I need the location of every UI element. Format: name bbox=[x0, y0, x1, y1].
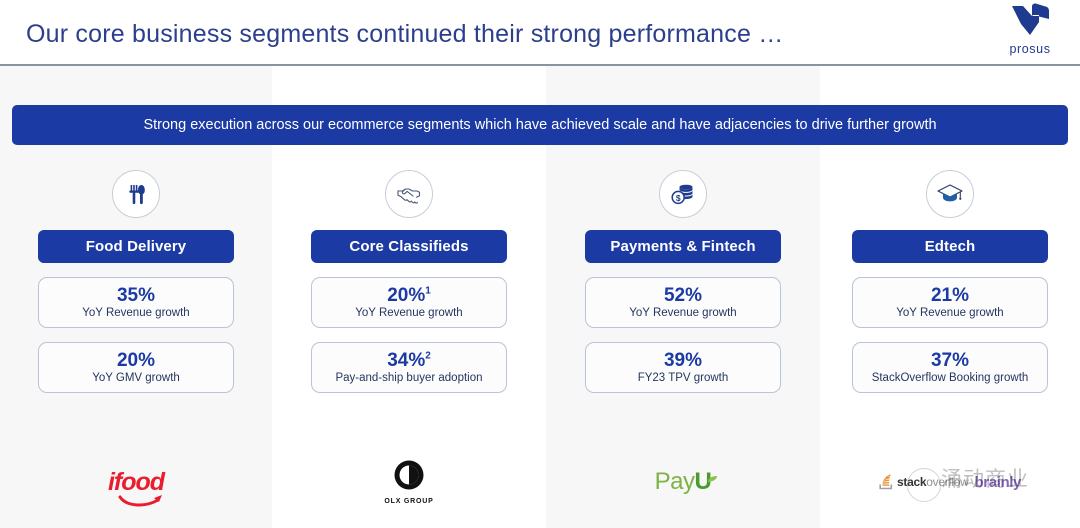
payu-leaf-icon bbox=[706, 468, 718, 492]
segment-title-label: Core Classifieds bbox=[349, 238, 468, 255]
metric-card: 37% StackOverflow Booking growth bbox=[852, 342, 1048, 393]
metric-label: YoY Revenue growth bbox=[896, 307, 1003, 319]
cutlery-icon bbox=[112, 170, 160, 218]
segment-title-label: Edtech bbox=[925, 238, 976, 255]
metric-label: StackOverflow Booking growth bbox=[872, 372, 1029, 384]
metric-label: Pay-and-ship buyer adoption bbox=[335, 372, 482, 384]
segment-column-core-classifieds: Core Classifieds 20%1 YoY Revenue growth… bbox=[272, 170, 546, 393]
segment-title-button[interactable]: Food Delivery bbox=[38, 230, 234, 263]
metric-label: YoY GMV growth bbox=[92, 372, 180, 384]
metric-label: FY23 TPV growth bbox=[638, 372, 729, 384]
metric-card: 52% YoY Revenue growth bbox=[585, 277, 781, 328]
coins-dollar-icon: $ bbox=[659, 170, 707, 218]
metric-label: YoY Revenue growth bbox=[82, 307, 189, 319]
handshake-icon bbox=[385, 170, 433, 218]
metric-card: 35% YoY Revenue growth bbox=[38, 277, 234, 328]
metric-value: 37% bbox=[931, 351, 969, 371]
segment-title-button[interactable]: Core Classifieds bbox=[311, 230, 507, 263]
metric-card: 34%2 Pay-and-ship buyer adoption bbox=[311, 342, 507, 393]
logo-cell-payments-fintech: PayU bbox=[546, 452, 820, 512]
brand-wordmark: prosus bbox=[994, 42, 1066, 56]
metric-footnote: 1 bbox=[425, 285, 431, 296]
watermark-ring bbox=[907, 468, 941, 502]
metric-value: 39% bbox=[664, 351, 702, 371]
metric-card: 21% YoY Revenue growth bbox=[852, 277, 1048, 328]
segment-title-label: Payments & Fintech bbox=[610, 238, 755, 255]
logo-cell-food-delivery: ifood bbox=[0, 452, 272, 512]
banner-text: Strong execution across our ecommerce se… bbox=[143, 117, 936, 133]
page-title: Our core business segments continued the… bbox=[26, 20, 783, 49]
metric-value: 34%2 bbox=[387, 351, 431, 371]
olx-group-logo: OLX GROUP bbox=[384, 459, 433, 505]
prosus-logo-icon bbox=[994, 2, 1066, 41]
metric-card: 39% FY23 TPV growth bbox=[585, 342, 781, 393]
metric-card: 20% YoY GMV growth bbox=[38, 342, 234, 393]
brand-logo: prosus bbox=[994, 2, 1066, 56]
metric-label: YoY Revenue growth bbox=[629, 307, 736, 319]
logo-cell-edtech: stackoverflow brainly 涌动商业 bbox=[820, 452, 1080, 512]
olx-group-wordmark: OLX GROUP bbox=[384, 498, 433, 505]
ifood-logo: ifood bbox=[108, 470, 164, 495]
metric-card: 20%1 YoY Revenue growth bbox=[311, 277, 507, 328]
graduation-cap-icon bbox=[926, 170, 974, 218]
brand-logo-row: ifood OLX GROUP bbox=[0, 452, 1080, 512]
olx-mark-icon bbox=[393, 459, 425, 491]
metric-value: 20%1 bbox=[387, 286, 431, 306]
segment-column-food-delivery: Food Delivery 35% YoY Revenue growth 20%… bbox=[0, 170, 272, 393]
highlight-banner: Strong execution across our ecommerce se… bbox=[12, 105, 1068, 145]
metric-value: 21% bbox=[931, 286, 969, 306]
metric-footnote: 2 bbox=[425, 350, 431, 361]
slide-root: Our core business segments continued the… bbox=[0, 0, 1080, 528]
metric-value: 20% bbox=[117, 351, 155, 371]
segment-column-payments-fintech: $ Payments & Fintech 52% YoY Revenue gro… bbox=[546, 170, 820, 393]
ifood-swoosh-icon bbox=[118, 490, 166, 515]
metric-value: 52% bbox=[664, 286, 702, 306]
svg-text:$: $ bbox=[676, 193, 681, 203]
brainly-wordmark: brainly bbox=[975, 474, 1021, 491]
metric-label: YoY Revenue growth bbox=[355, 307, 462, 319]
stackoverflow-mark-icon bbox=[879, 474, 894, 490]
segment-title-label: Food Delivery bbox=[86, 238, 187, 255]
logo-cell-core-classifieds: OLX GROUP bbox=[272, 452, 546, 512]
segment-title-button[interactable]: Edtech bbox=[852, 230, 1048, 263]
header-divider bbox=[0, 64, 1080, 66]
payu-wordmark-pay: Pay bbox=[655, 468, 695, 495]
segment-columns: Food Delivery 35% YoY Revenue growth 20%… bbox=[0, 170, 1080, 393]
payu-logo: PayU bbox=[655, 470, 712, 494]
segment-column-edtech: Edtech 21% YoY Revenue growth 37% StackO… bbox=[820, 170, 1080, 393]
slide-header: Our core business segments continued the… bbox=[0, 0, 1080, 66]
edtech-brand-logos: stackoverflow brainly 涌动商业 bbox=[879, 474, 1021, 491]
segment-title-button[interactable]: Payments & Fintech bbox=[585, 230, 781, 263]
metric-value: 35% bbox=[117, 286, 155, 306]
